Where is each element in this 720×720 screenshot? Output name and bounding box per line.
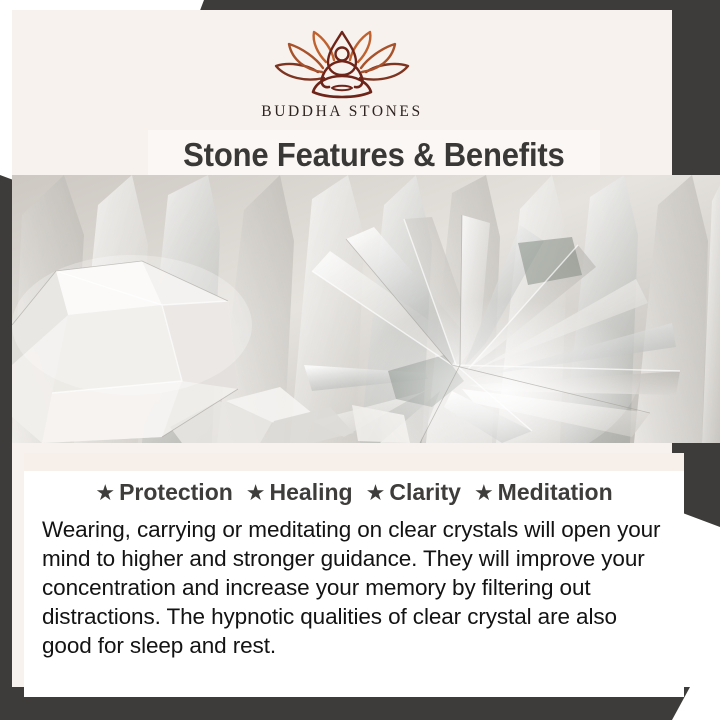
info-section: ★ Protection ★ Healing ★ Clarity ★ Medit… (24, 471, 684, 697)
benefit-label: Clarity (389, 479, 461, 506)
brand-name: BUDDHA STONES (261, 103, 422, 121)
star-icon: ★ (474, 480, 494, 506)
brand-logo: BUDDHA STONES (12, 28, 672, 121)
crystal-photo: White Crystal (12, 175, 720, 443)
photo-separator (24, 453, 684, 471)
benefit-label: Protection (119, 479, 233, 506)
benefit-item: ★ Protection (95, 479, 245, 506)
crystal-photo-art (12, 175, 720, 443)
product-info-poster: BUDDHA STONES Stone Features & Benefits (0, 0, 720, 720)
benefit-item: ★ Meditation (474, 479, 613, 506)
page-title: Stone Features & Benefits (183, 136, 564, 174)
star-icon: ★ (95, 480, 115, 506)
page-title-band: Stone Features & Benefits (148, 130, 600, 180)
benefit-item: ★ Healing (246, 479, 366, 506)
benefit-label: Meditation (498, 479, 613, 506)
star-icon: ★ (246, 480, 266, 506)
star-icon: ★ (366, 480, 386, 506)
benefits-list: ★ Protection ★ Healing ★ Clarity ★ Medit… (24, 471, 684, 506)
benefit-item: ★ Clarity (366, 479, 474, 506)
description-text: Wearing, carrying or meditating on clear… (42, 515, 670, 660)
benefit-label: Healing (270, 479, 353, 506)
poster-card: BUDDHA STONES Stone Features & Benefits (12, 10, 672, 687)
lotus-meditation-icon (266, 28, 418, 100)
